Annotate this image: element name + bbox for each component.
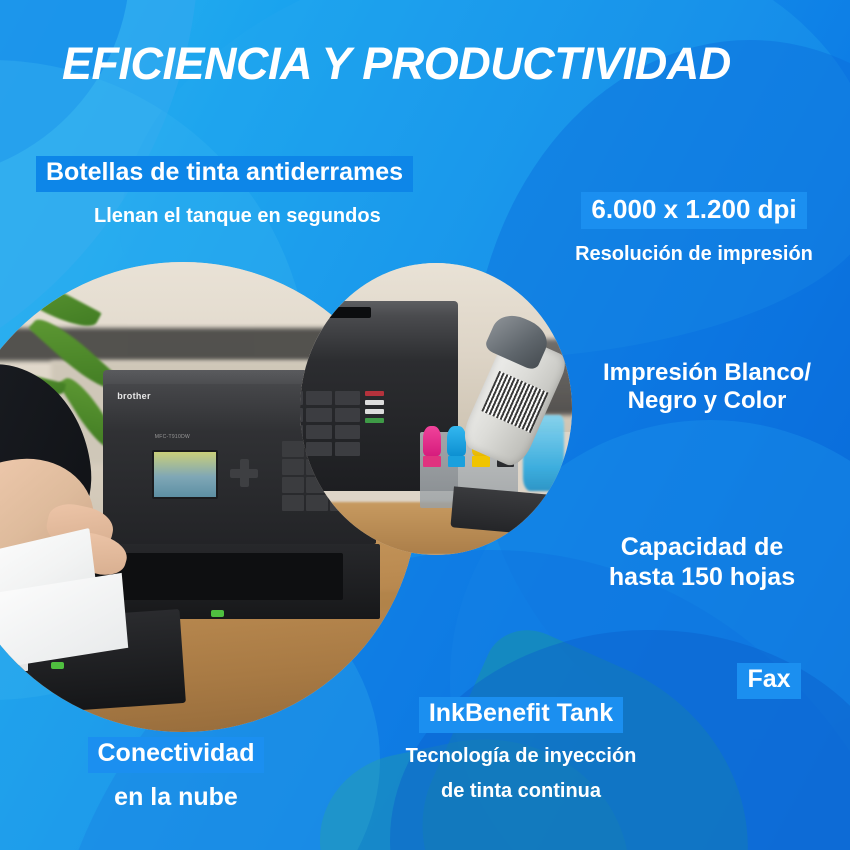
photo-tray-guide	[211, 610, 224, 617]
photo-ink-tank-labels	[420, 456, 518, 468]
feature-inkbenefit-subtitle-line1: Tecnología de inyección	[382, 744, 660, 768]
feature-fax-title: Fax	[716, 663, 822, 699]
feature-ink-bottles-title: Botellas de tinta antiderrames	[36, 156, 413, 192]
photo-wall	[300, 263, 572, 432]
feature-print-modes: Impresión Blanco/ Negro y Color	[572, 359, 842, 416]
photo-printer-top	[300, 301, 458, 327]
photo-plant-leaf	[58, 372, 122, 457]
printer-keypad	[282, 441, 353, 512]
printer-model-label: MFC-T910DW	[155, 434, 190, 440]
photo-tray-guide	[136, 633, 149, 640]
photo-ink-tank-housing	[420, 432, 518, 508]
feature-inkbenefit-tank: InkBenefit Tank Tecnología de inyección …	[382, 697, 660, 803]
feature-ink-bottles: Botellas de tinta antiderrames Llenan el…	[36, 156, 413, 228]
feature-resolution-title: 6.000 x 1.200 dpi	[544, 192, 844, 229]
photo-paper-tray	[61, 544, 381, 619]
photo-ink-cover-door	[451, 486, 563, 536]
photo-plant-leaf	[29, 310, 122, 397]
photo-plant-leaf	[0, 367, 66, 401]
photo-finger	[43, 500, 116, 555]
photo-circle-ink-refill	[300, 263, 572, 555]
feature-cloud-line1: Conectividad	[56, 737, 296, 773]
printer-keypad	[300, 391, 360, 455]
photo-wall-panel	[51, 361, 380, 464]
printer-lcd-screen	[152, 450, 217, 499]
ink-cap-magenta	[423, 426, 442, 456]
page-title: EFICIENCIA Y PRODUCTIVIDAD	[62, 40, 802, 87]
ink-cap-cyan	[447, 426, 466, 456]
photo-printer-body	[300, 316, 458, 491]
photo-paper-cassette	[0, 609, 186, 723]
photo-tray-guide	[51, 662, 64, 669]
photo-desk-edge	[0, 591, 418, 610]
photo-ink-bottle-cap	[484, 309, 554, 372]
photo-desk	[300, 502, 572, 555]
feature-cloud-connectivity: Conectividad en la nube	[56, 737, 296, 812]
photo-desk	[0, 516, 418, 732]
photo-ink-bottle-label	[481, 371, 549, 433]
feature-cloud-line2: en la nube	[56, 782, 296, 812]
feature-resolution: 6.000 x 1.200 dpi Resolución de impresió…	[544, 192, 844, 266]
printer-function-buttons	[365, 391, 384, 455]
photo-hand	[0, 448, 103, 593]
ink-cap-black	[496, 426, 515, 456]
photo-printer-slot	[327, 307, 371, 319]
photo-wall	[0, 262, 418, 535]
feature-ink-bottles-subtitle: Llenan el tanque en segundos	[36, 204, 413, 228]
photo-paper-stack	[0, 528, 102, 673]
ink-cap-yellow	[472, 426, 491, 456]
feature-inkbenefit-subtitle-line2: de tinta continua	[382, 779, 660, 803]
promo-poster: brother MFC-T910DW	[0, 0, 850, 850]
photo-finger	[62, 527, 131, 580]
feature-capacity-line2: hasta 150 hojas	[562, 563, 842, 593]
photo-ink-bottle-blue	[523, 415, 564, 491]
photo-circle-paper-loading: brother MFC-T910DW	[0, 262, 418, 732]
photo-shelf	[0, 328, 418, 361]
photo-cassette-label	[0, 638, 28, 671]
feature-inkbenefit-title: InkBenefit Tank	[382, 697, 660, 733]
printer-brand-logo: brother	[117, 391, 151, 401]
photo-person-sleeve	[0, 354, 100, 565]
photo-plant-leaf	[8, 270, 101, 336]
photo-printer-body	[103, 384, 376, 544]
background-shape-top-left-circle	[0, 0, 130, 180]
photo-ink-tank-caps	[420, 421, 518, 456]
feature-print-modes-line2: Negro y Color	[572, 387, 842, 415]
feature-print-modes-line1: Impresión Blanco/	[572, 359, 842, 387]
printer-dpad-icon	[230, 459, 258, 487]
photo-ink-bottle	[458, 330, 570, 470]
feature-resolution-subtitle: Resolución de impresión	[544, 242, 844, 266]
printer-function-buttons	[357, 441, 390, 512]
feature-capacity: Capacidad de hasta 150 hojas	[562, 533, 842, 592]
feature-fax: Fax	[716, 663, 822, 699]
feature-capacity-line1: Capacidad de	[562, 533, 842, 563]
photo-paper-tray-inner	[89, 553, 343, 600]
photo-paper-stack	[0, 573, 129, 675]
photo-background-object	[534, 339, 572, 415]
photo-printer-lid	[103, 370, 376, 403]
photo-printer-panel	[300, 391, 360, 455]
